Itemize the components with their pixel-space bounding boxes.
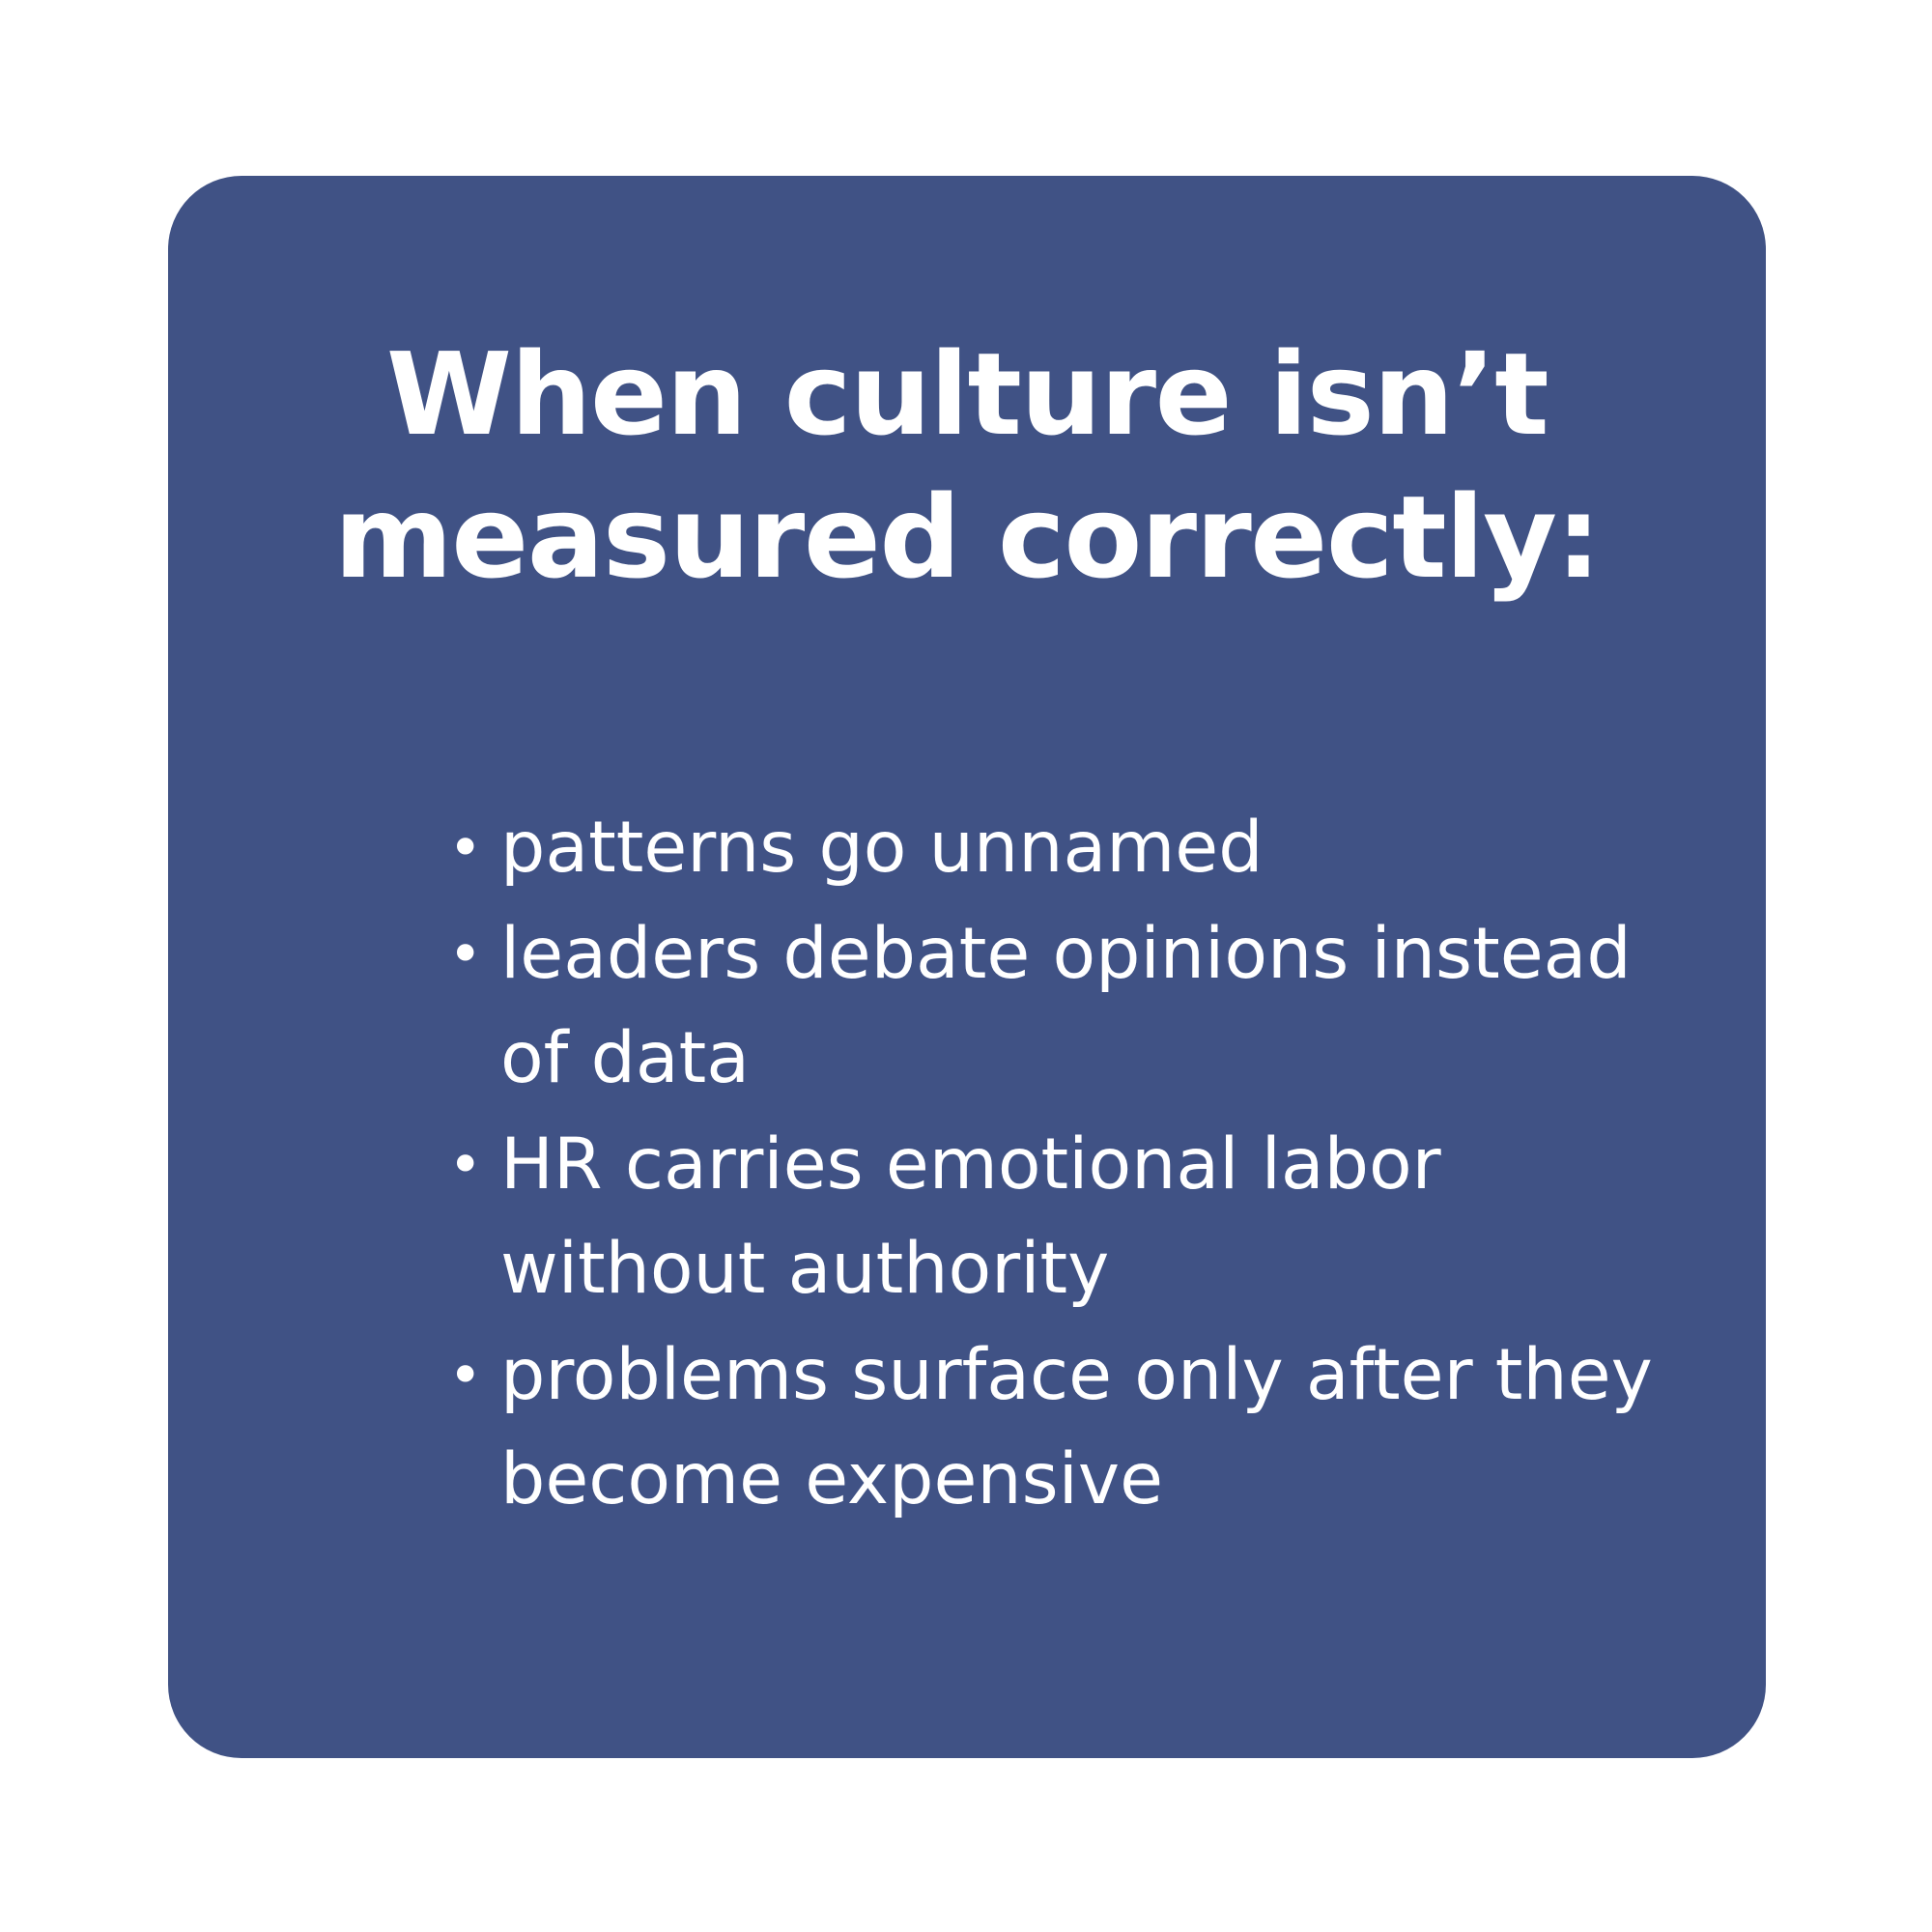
bullet-dot-icon: • bbox=[448, 796, 483, 900]
page-title-line-1: When culture isn’t bbox=[207, 323, 1727, 466]
bullet-dot-icon: • bbox=[448, 1113, 483, 1217]
bullet-dot-icon: • bbox=[448, 1323, 483, 1428]
list-item: • problems surface only after they becom… bbox=[444, 1323, 1700, 1532]
list-item: • HR carries emotional labor without aut… bbox=[444, 1113, 1700, 1321]
page-title-line-2: measured correctly: bbox=[207, 466, 1727, 609]
list-item: • leaders debate opinions instead of dat… bbox=[444, 902, 1700, 1111]
bullet-list: • patterns go unnamed • leaders debate o… bbox=[444, 796, 1700, 1534]
content-card: When culture isn’t measured correctly: •… bbox=[168, 176, 1766, 1758]
list-item-label: HR carries emotional labor without autho… bbox=[500, 1113, 1700, 1321]
bullet-dot-icon: • bbox=[448, 902, 483, 1007]
list-item: • patterns go unnamed bbox=[444, 796, 1700, 900]
list-item-label: patterns go unnamed bbox=[500, 796, 1700, 900]
slide-canvas: When culture isn’t measured correctly: •… bbox=[0, 0, 1932, 1932]
page-title: When culture isn’t measured correctly: bbox=[168, 323, 1766, 609]
list-item-label: problems surface only after they become … bbox=[500, 1323, 1700, 1532]
list-item-label: leaders debate opinions instead of data bbox=[500, 902, 1700, 1111]
